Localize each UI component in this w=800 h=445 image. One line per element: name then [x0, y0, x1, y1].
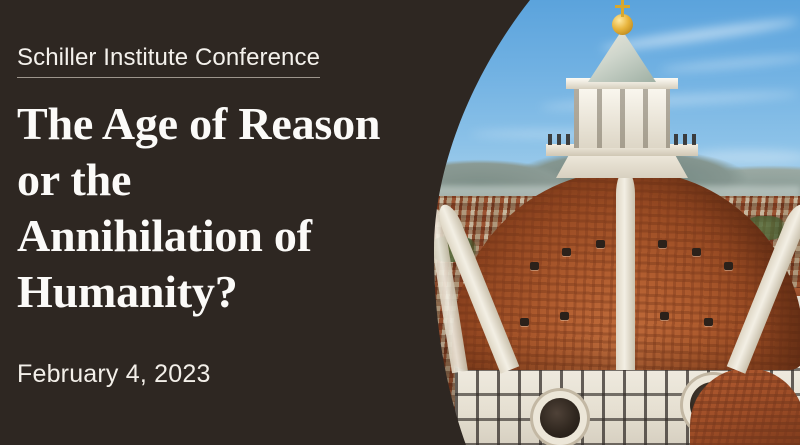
event-date: February 4, 2023	[17, 360, 211, 389]
headline-line-1: The Age of Reason	[17, 96, 437, 152]
conference-poster: Schiller Institute Conference The Age of…	[0, 0, 800, 445]
oculus-window	[540, 398, 580, 438]
dome-vent	[596, 240, 605, 248]
dome-vent	[704, 318, 713, 326]
dome-vent	[562, 248, 571, 256]
poster-text-block: Schiller Institute Conference The Age of…	[17, 0, 437, 445]
dome-vent	[530, 262, 539, 270]
dome-vent	[560, 312, 569, 320]
dome-vent	[660, 312, 669, 320]
headline-line-4: Humanity?	[17, 264, 437, 320]
dome-vent	[724, 262, 733, 270]
cross-icon	[615, 5, 630, 8]
headline-line-3: Annihilation of	[17, 208, 437, 264]
dome-vent	[692, 248, 701, 256]
dome-vent	[658, 240, 667, 248]
cross-icon	[621, 0, 624, 17]
lantern-body	[574, 86, 670, 148]
conference-eyebrow: Schiller Institute Conference	[17, 44, 320, 78]
page-title: The Age of Reason or the Annihilation of…	[17, 96, 437, 320]
dome-rib	[616, 170, 635, 370]
golden-sphere	[612, 14, 633, 35]
headline-line-2: or the	[17, 152, 437, 208]
dome-vent	[520, 318, 529, 326]
